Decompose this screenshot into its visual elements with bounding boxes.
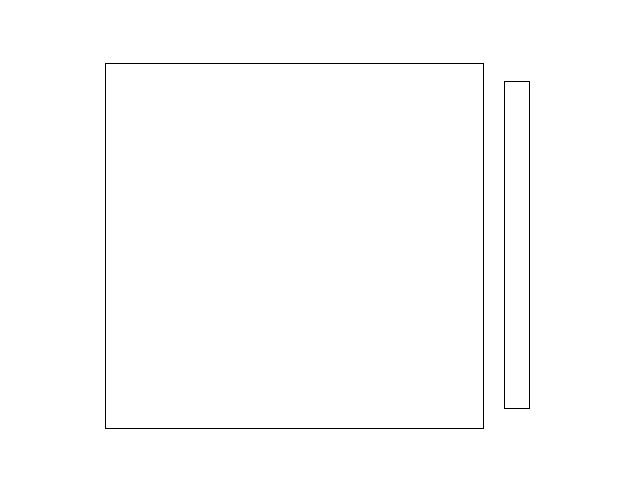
heatmap-axes	[105, 63, 484, 429]
colorbar-extend-max-arrow	[504, 63, 530, 81]
colorbar-gradient	[504, 81, 530, 409]
matplotlib-figure	[0, 0, 640, 480]
colorbar	[504, 63, 530, 427]
colorbar-extend-min-arrow	[504, 409, 530, 427]
detector-heatmap-image	[106, 64, 483, 428]
